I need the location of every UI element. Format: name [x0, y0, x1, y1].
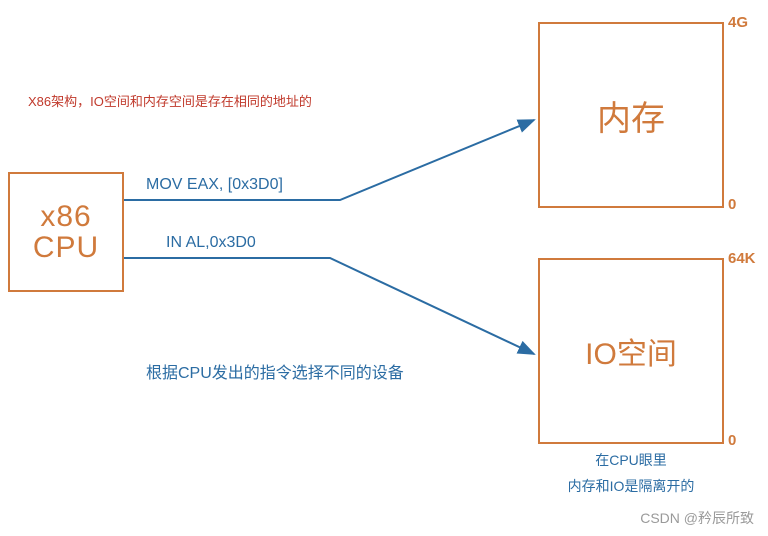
- io-label: IO空间: [585, 329, 677, 373]
- memory-bottom-tick: 0: [728, 196, 736, 213]
- io-caption-line2: 内存和IO是隔离开的: [538, 476, 724, 496]
- instruction-label-mov: MOV EAX, [0x3D0]: [146, 176, 283, 194]
- watermark: CSDN @矜辰所致: [640, 508, 754, 528]
- note-x86-address-space: X86架构，IO空间和内存空间是存在相同的地址的: [28, 91, 312, 110]
- io-bottom-tick: 0: [728, 432, 736, 449]
- instruction-label-in: IN AL,0x3D0: [166, 234, 256, 252]
- memory-box: 内存: [538, 22, 724, 208]
- arrow-cpu-to-io: [124, 258, 534, 354]
- io-top-tick: 64K: [728, 250, 756, 267]
- cpu-box: x86 CPU: [8, 172, 124, 292]
- note-device-selection: 根据CPU发出的指令选择不同的设备: [146, 359, 404, 383]
- memory-label: 内存: [597, 91, 665, 140]
- io-caption-line1: 在CPU眼里: [538, 450, 724, 470]
- diagram-canvas: x86 CPU 内存 4G 0 IO空间 64K 0 MOV EAX, [0x3…: [0, 0, 768, 536]
- io-box: IO空间: [538, 258, 724, 444]
- cpu-label-line2: CPU: [33, 232, 99, 264]
- cpu-label-line1: x86: [40, 201, 91, 233]
- memory-top-tick: 4G: [728, 14, 748, 31]
